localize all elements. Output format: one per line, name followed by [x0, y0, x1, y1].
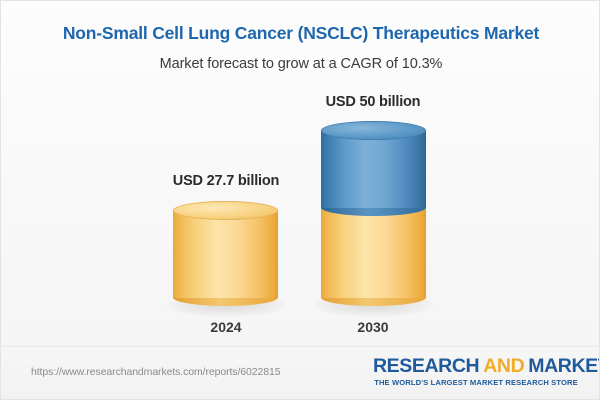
- logo-wordmark: RESEARCHANDMARKETS: [373, 355, 579, 377]
- category-label-2030: 2030: [273, 319, 473, 335]
- logo-word-research: RESEARCH: [373, 355, 479, 377]
- logo-word-and: AND: [483, 355, 524, 377]
- report-url[interactable]: https://www.researchandmarkets.com/repor…: [31, 366, 280, 378]
- chart-plot-area: USD 27.7 billion 2024 USD 50 billion: [1, 1, 600, 346]
- logo-word-markets: MARKETS: [528, 355, 600, 377]
- cylinder-2030: [321, 121, 426, 306]
- cylinder-growth-body-2030: [321, 130, 426, 208]
- bar-group-2030: USD 50 billion 2030: [1, 1, 600, 346]
- research-and-markets-logo[interactable]: RESEARCHANDMARKETS THE WORLD'S LARGEST M…: [373, 355, 579, 387]
- logo-tagline: THE WORLD'S LARGEST MARKET RESEARCH STOR…: [373, 378, 579, 387]
- cylinder-growth-top-2030: [321, 121, 426, 140]
- footer-bar: https://www.researchandmarkets.com/repor…: [1, 346, 600, 400]
- bar-value-label-2030: USD 50 billion: [273, 94, 473, 110]
- chart-canvas: Non-Small Cell Lung Cancer (NSCLC) Thera…: [0, 0, 600, 400]
